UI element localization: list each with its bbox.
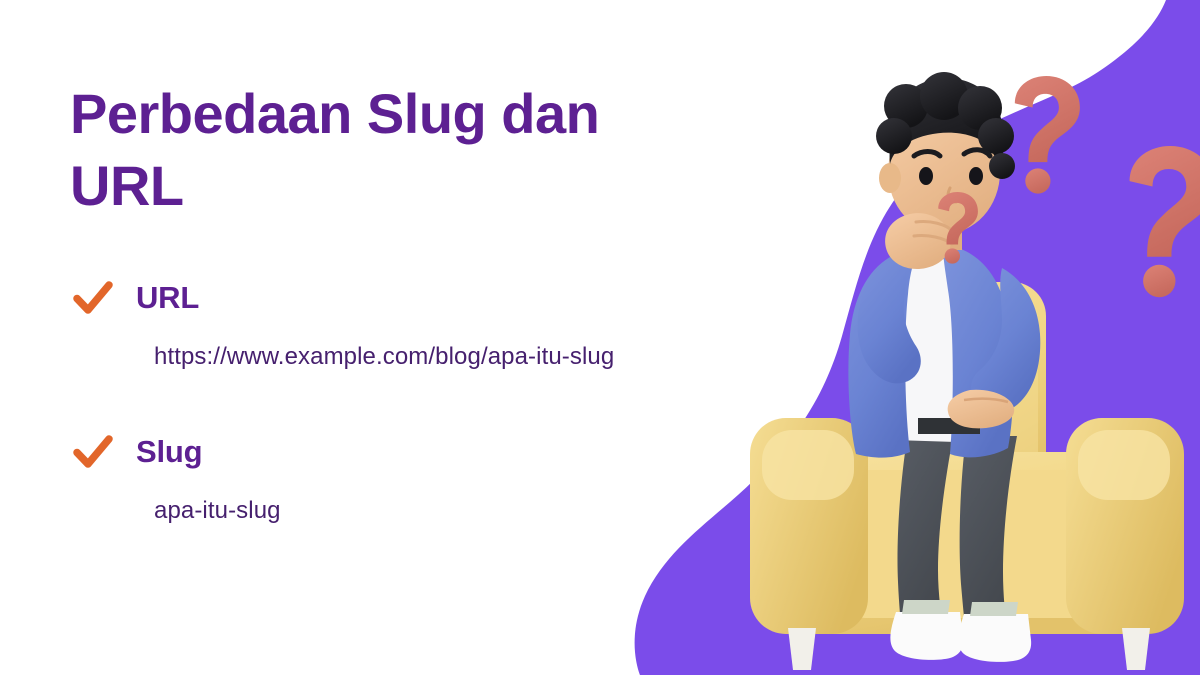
- list-item-label: URL: [136, 280, 199, 316]
- list-item-label: Slug: [136, 434, 202, 470]
- list-item: URL https://www.example.com/blog/apa-itu…: [70, 275, 770, 371]
- question-mark-large-right: [1130, 146, 1200, 297]
- list-item-value: apa-itu-slug: [154, 497, 770, 525]
- check-icon: [70, 275, 116, 321]
- definition-list: URL https://www.example.com/blog/apa-itu…: [70, 275, 770, 525]
- check-icon: [70, 429, 116, 475]
- content-column: Perbedaan Slug dan URL URL https://www.e…: [70, 78, 770, 525]
- question-mark-large-top: [1015, 76, 1080, 194]
- question-mark-small-left: [938, 192, 978, 264]
- page-title: Perbedaan Slug dan URL: [70, 78, 630, 221]
- list-item-header: Slug: [70, 429, 770, 475]
- list-item-value: https://www.example.com/blog/apa-itu-slu…: [154, 343, 770, 371]
- list-item: Slug apa-itu-slug: [70, 429, 770, 525]
- slide-canvas: Perbedaan Slug dan URL URL https://www.e…: [0, 0, 1200, 675]
- question-mark-group: [730, 0, 1200, 675]
- list-item-header: URL: [70, 275, 770, 321]
